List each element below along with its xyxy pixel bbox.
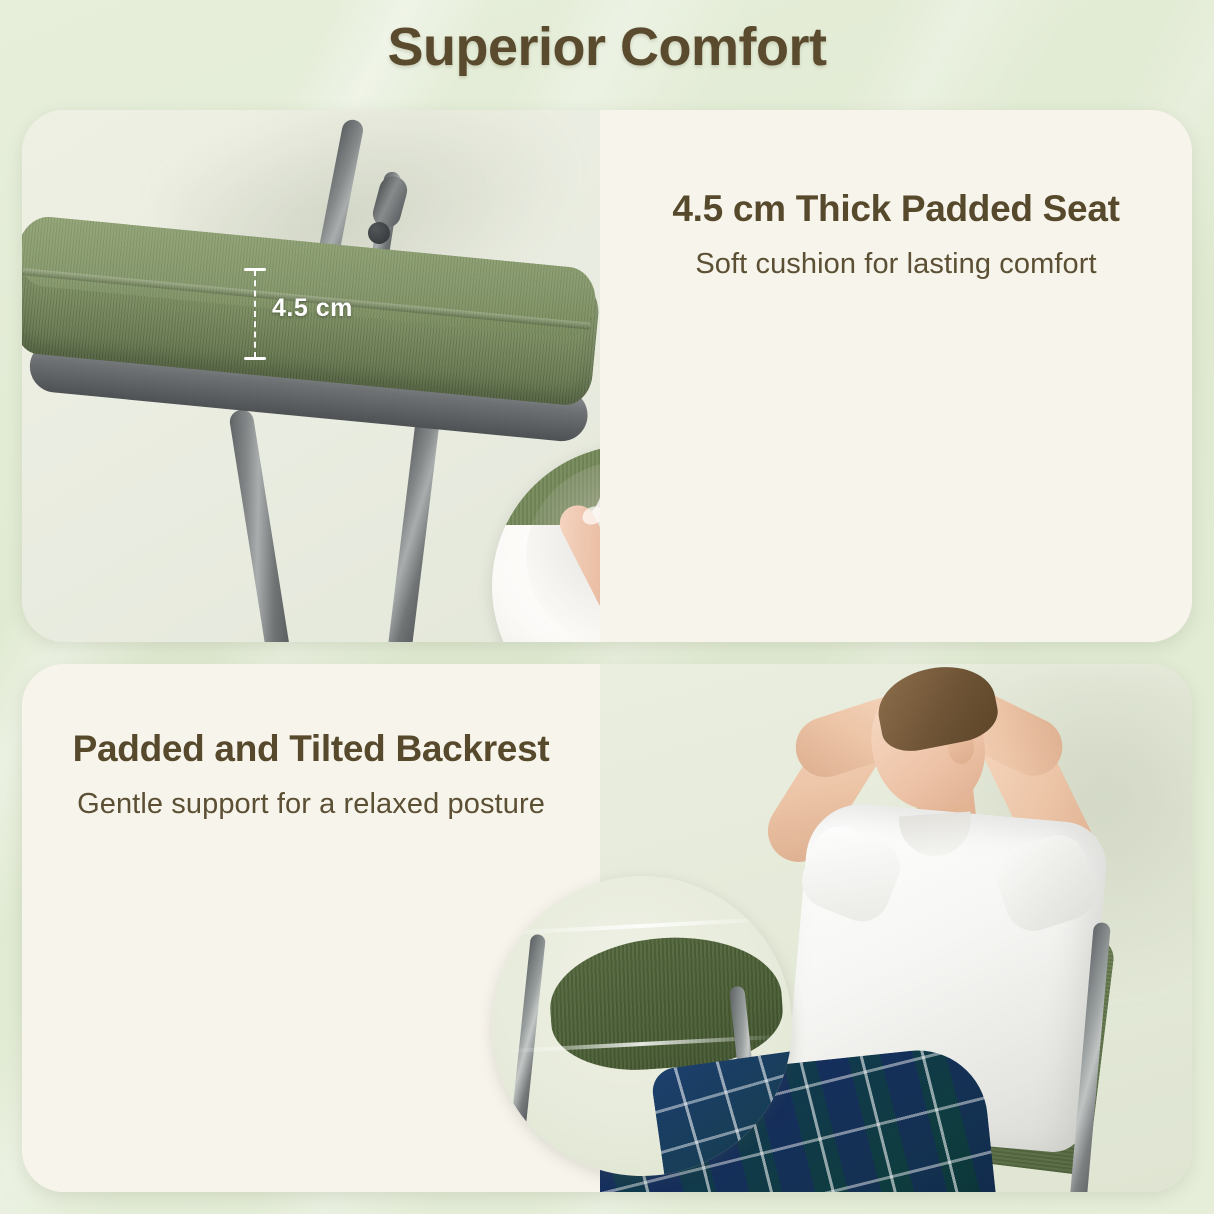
feature-card-tilted-backrest: Padded and Tilted Backrest Gentle suppor… [22, 664, 1192, 1192]
measure-dashed-line [254, 270, 256, 358]
page-title: Superior Comfort [0, 16, 1214, 78]
chair-hinge-icon [368, 222, 390, 244]
hand-pressing [570, 463, 600, 642]
feature-subtitle: Soft cushion for lasting comfort [695, 248, 1096, 281]
backrest-closeup-inset [492, 876, 792, 1176]
chair-front-leg [228, 408, 294, 642]
feature-title: 4.5 cm Thick Padded Seat [672, 188, 1119, 230]
chair-rear-leg [384, 409, 441, 642]
feature-subtitle: Gentle support for a relaxed posture [77, 788, 545, 821]
foam-edge-shade [492, 635, 600, 642]
thickness-measurement: 4.5 cm [244, 258, 394, 370]
measure-label: 4.5 cm [272, 294, 353, 323]
feature-title: Padded and Tilted Backrest [73, 728, 550, 770]
foam-press-inset [492, 445, 600, 642]
feature-card-padded-seat: 4.5 cm 4.5 cm Thick Padde [22, 110, 1192, 642]
plaid-fabric-corner [650, 1050, 792, 1176]
seat-text-panel: 4.5 cm Thick Padded Seat Soft cushion fo… [600, 110, 1192, 642]
measure-cap-bottom [244, 357, 266, 360]
seat-photo-panel: 4.5 cm [22, 110, 600, 642]
